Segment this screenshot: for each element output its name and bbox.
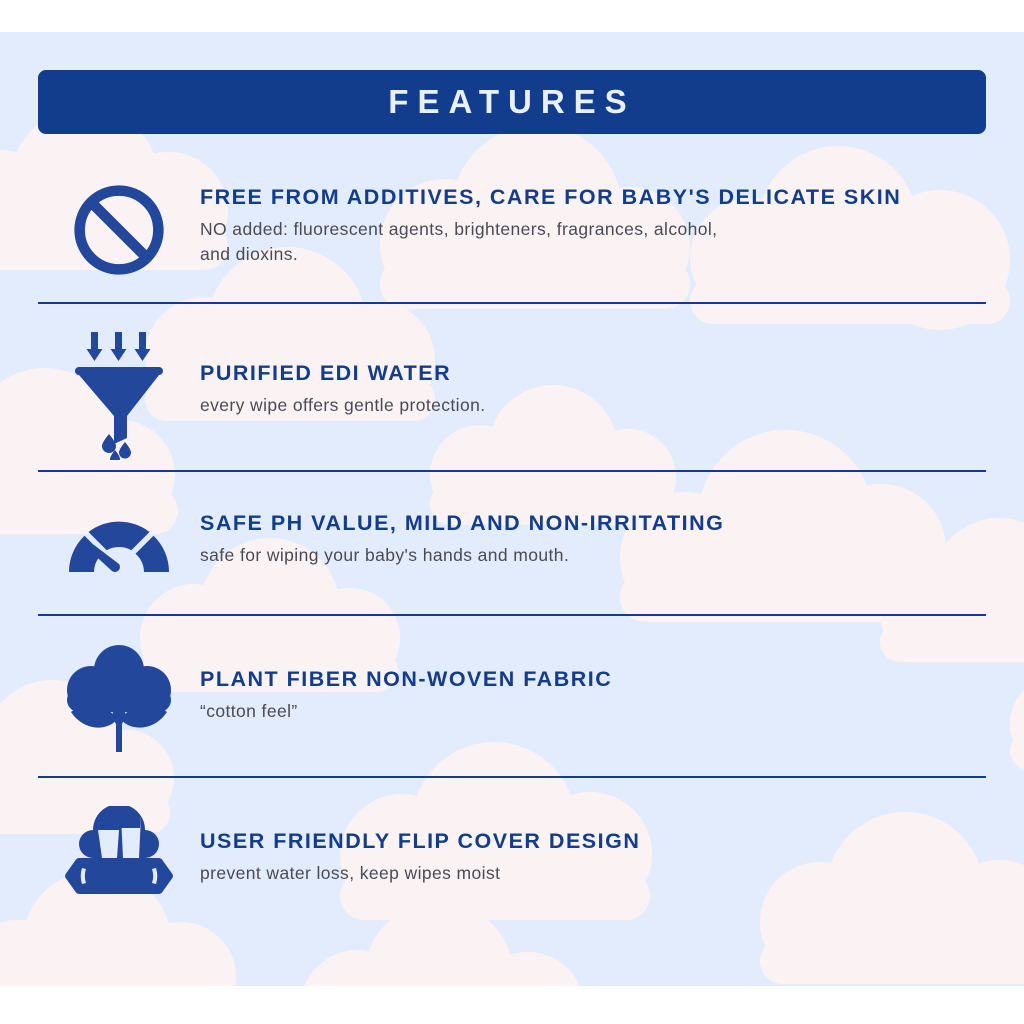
feature-row: USER FRIENDLY FLIP COVER DESIGN prevent … (38, 806, 986, 906)
row-divider (38, 614, 986, 616)
no-additives-prohibition-icon (71, 182, 167, 278)
feature-subtitle: every wipe offers gentle protection. (200, 393, 986, 418)
feature-icon-cell (38, 182, 200, 278)
features-banner: FEATURES (38, 70, 986, 134)
feature-row: PLANT FIBER NON-WOVEN FABRIC “cotton fee… (38, 640, 986, 758)
feature-title: PURIFIED EDI WATER (200, 360, 986, 387)
ph-gauge-icon (67, 498, 171, 578)
infographic-page: FEATURES FREE FROM ADDITIVES, CARE FOR B… (0, 0, 1024, 1024)
feature-icon-cell (38, 498, 200, 578)
cotton-plant-icon (67, 640, 171, 758)
feature-icon-cell (38, 806, 200, 906)
feature-text-cell: PURIFIED EDI WATER every wipe offers gen… (200, 330, 986, 418)
feature-subtitle: safe for wiping your baby's hands and mo… (200, 543, 986, 568)
feature-title: PLANT FIBER NON-WOVEN FABRIC (200, 666, 986, 693)
row-divider (38, 470, 986, 472)
page-title: FEATURES (388, 83, 635, 121)
cloud-shape (300, 892, 600, 986)
feature-title: FREE FROM ADDITIVES, CARE FOR BABY'S DEL… (200, 184, 986, 211)
feature-subtitle: NO added: fluorescent agents, brightener… (200, 217, 986, 267)
feature-text-cell: SAFE PH VALUE, MILD AND NON-IRRITATING s… (200, 498, 986, 568)
feature-row: PURIFIED EDI WATER every wipe offers gen… (38, 330, 986, 460)
feature-subtitle: prevent water loss, keep wipes moist (200, 861, 986, 886)
feature-row: SAFE PH VALUE, MILD AND NON-IRRITATING s… (38, 498, 986, 578)
funnel-water-filter-icon (69, 330, 169, 460)
feature-title: SAFE PH VALUE, MILD AND NON-IRRITATING (200, 510, 986, 537)
feature-title: USER FRIENDLY FLIP COVER DESIGN (200, 828, 986, 855)
feature-subtitle: “cotton feel” (200, 699, 986, 724)
feature-text-cell: FREE FROM ADDITIVES, CARE FOR BABY'S DEL… (200, 182, 986, 267)
feature-icon-cell (38, 330, 200, 460)
feature-text-cell: PLANT FIBER NON-WOVEN FABRIC “cotton fee… (200, 640, 986, 724)
feature-row: FREE FROM ADDITIVES, CARE FOR BABY'S DEL… (38, 182, 986, 278)
wipes-flip-cover-pack-icon (65, 806, 173, 906)
row-divider (38, 776, 986, 778)
feature-text-cell: USER FRIENDLY FLIP COVER DESIGN prevent … (200, 806, 986, 886)
cloud-shape (1010, 632, 1024, 752)
feature-icon-cell (38, 640, 200, 758)
row-divider (38, 302, 986, 304)
